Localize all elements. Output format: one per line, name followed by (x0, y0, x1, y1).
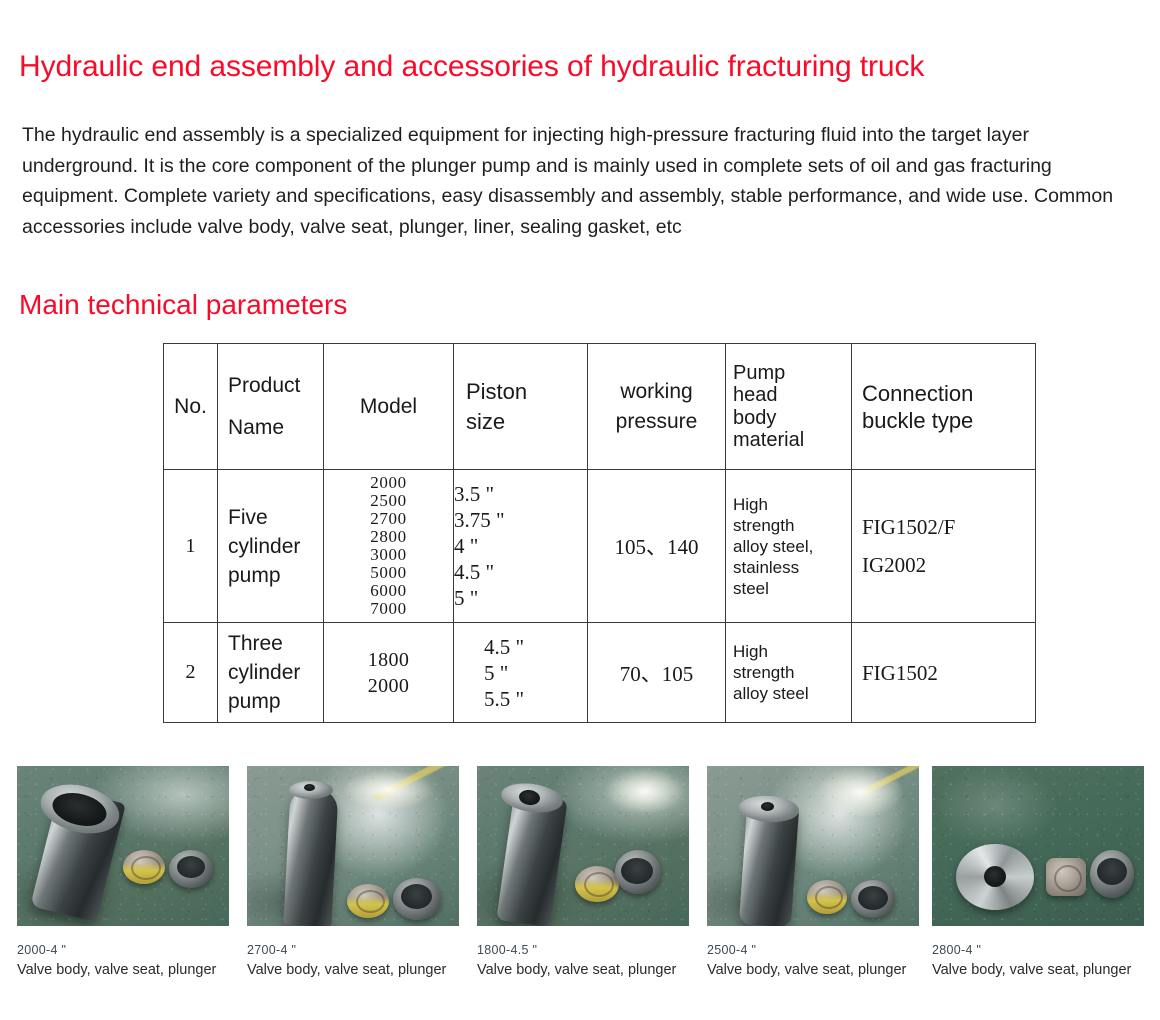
cell-connection-buckle-type: FIG1502 (852, 623, 1036, 723)
col-header-piston-size-line2: size (466, 407, 587, 437)
cell-material-line2: strength (733, 515, 851, 536)
cell-piston-size: 3.5 " 3.75 " 4 " 4.5 " 5 " (454, 470, 588, 623)
cell-product-name: Five cylinder pump (218, 470, 324, 623)
cell-product-name-line1: Three (228, 629, 323, 658)
plunger-ring-bore (858, 886, 888, 910)
plunger-part (739, 804, 799, 926)
gallery-caption-description: Valve body, valve seat, plunger (247, 962, 459, 978)
spec-table: No. Product Name Model Piston size worki… (163, 343, 1036, 723)
gallery-caption-model: 2500-4 " (707, 943, 919, 957)
light-glare (343, 770, 433, 810)
gallery-caption-description: Valve body, valve seat, plunger (932, 962, 1144, 978)
gallery-caption-model: 2800-4 " (932, 943, 1144, 957)
cell-material-line3: alloy steel, (733, 536, 851, 557)
cell-model: 2000 2500 2700 2800 3000 5000 6000 7000 (324, 470, 454, 623)
cell-connection-buckle-type: FIG1502/F IG2002 (852, 470, 1036, 623)
product-photo-gallery: 2000-4 " Valve body, valve seat, plunger… (0, 766, 1160, 1016)
cell-product-name: Three cylinder pump (218, 623, 324, 723)
cell-working-pressure: 105、140 (588, 470, 726, 623)
product-photo-cone-seat-ring[interactable] (932, 766, 1144, 926)
cell-material-line2: strength (733, 662, 851, 683)
section-title-main-technical-parameters: Main technical parameters (19, 288, 347, 322)
cell-pump-head-material: High strength alloy steel (726, 623, 852, 723)
plunger-ring-bore (1097, 858, 1127, 885)
intro-paragraph: The hydraulic end assembly is a speciali… (22, 120, 1132, 242)
cell-connection-line1: FIG1502 (862, 654, 1035, 692)
cell-material-line1: High (733, 641, 851, 662)
valve-seat-groove (584, 872, 614, 897)
cell-piston-size-values: 3.5 " 3.75 " 4 " 4.5 " 5 " (454, 481, 587, 611)
photo-texture (932, 766, 1144, 926)
col-header-piston-size: Piston size (454, 344, 588, 470)
product-photo-tall-plunger[interactable] (247, 766, 459, 926)
cell-pump-head-material: High strength alloy steel, stainless ste… (726, 470, 852, 623)
product-photo-valve-body-bore[interactable] (17, 766, 229, 926)
col-header-working-pressure: working pressure (588, 344, 726, 470)
plunger-ring-bore (621, 858, 653, 884)
col-header-connection-line2: buckle type (862, 407, 1035, 434)
cell-working-pressure: 70、105 (588, 623, 726, 723)
cell-connection-line2: IG2002 (862, 546, 1035, 584)
plunger-bore (761, 802, 774, 811)
page-title: Hydraulic end assembly and accessories o… (19, 50, 924, 84)
cell-product-name-line2: cylinder (228, 532, 323, 561)
gallery-item[interactable]: 1800-4.5 " Valve body, valve seat, plung… (477, 766, 689, 978)
cell-model-values: 2000 2500 2700 2800 3000 5000 6000 7000 (324, 474, 453, 618)
col-header-product-name-line1: Product (228, 365, 323, 407)
cell-material-line4: stainless (733, 557, 851, 578)
col-header-model: Model (324, 344, 454, 470)
gallery-item[interactable]: 2500-4 " Valve body, valve seat, plunger (707, 766, 919, 978)
cell-model-values: 1800 2000 (324, 647, 453, 699)
col-header-working-pressure-line1: working (588, 377, 725, 407)
gallery-caption-description: Valve body, valve seat, plunger (17, 962, 229, 978)
cell-material-line1: High (733, 494, 851, 515)
col-header-pump-head-line4: material (733, 429, 851, 452)
table-header-row: No. Product Name Model Piston size worki… (164, 344, 1036, 470)
valve-body-cone-bore (984, 866, 1006, 887)
cell-product-name-line3: pump (228, 561, 323, 590)
table-row: 1 Five cylinder pump 2000 2500 2700 2800… (164, 470, 1036, 623)
cell-no: 1 (164, 470, 218, 623)
col-header-pump-head-body-material: Pump head body material (726, 344, 852, 470)
col-header-connection-buckle-type: Connection buckle type (852, 344, 1036, 470)
table-row: 2 Three cylinder pump 1800 2000 4.5 " 5 … (164, 623, 1036, 723)
valve-seat-groove (356, 890, 385, 913)
cell-material-line5: steel (733, 578, 851, 599)
col-header-working-pressure-line2: pressure (588, 407, 725, 437)
cell-material-line3: alloy steel (733, 683, 851, 704)
col-header-pump-head-line1: Pump (733, 362, 851, 385)
gallery-caption-model: 1800-4.5 " (477, 943, 689, 957)
cell-product-name-line3: pump (228, 687, 323, 716)
col-header-piston-size-line1: Piston (466, 377, 587, 407)
col-header-product-name-line2: Name (228, 407, 323, 449)
cell-product-name-line2: cylinder (228, 658, 323, 687)
plunger-ring-bore (177, 856, 205, 878)
col-header-pump-head-line2: head (733, 384, 851, 407)
col-header-connection-line1: Connection (862, 380, 1035, 407)
col-header-no: No. (164, 344, 218, 470)
gallery-caption-description: Valve body, valve seat, plunger (477, 962, 689, 978)
gallery-caption-description: Valve body, valve seat, plunger (707, 962, 919, 978)
gallery-item[interactable]: 2700-4 " Valve body, valve seat, plunger (247, 766, 459, 978)
gallery-caption-model: 2000-4 " (17, 943, 229, 957)
col-header-pump-head-line3: body (733, 407, 851, 430)
cell-product-name-line1: Five (228, 503, 323, 532)
cell-connection-line1: FIG1502/F (862, 508, 1035, 546)
cell-piston-size-values: 4.5 " 5 " 5.5 " (484, 634, 587, 712)
gallery-item[interactable]: 2800-4 " Valve body, valve seat, plunger (932, 766, 1144, 978)
cell-no: 2 (164, 623, 218, 723)
col-header-product-name: Product Name (218, 344, 324, 470)
plunger-ring-bore (401, 884, 432, 909)
plunger-part (283, 787, 338, 926)
cell-piston-size: 4.5 " 5 " 5.5 " (454, 623, 588, 723)
valve-seat-groove (1054, 865, 1082, 892)
valve-seat-groove (815, 886, 843, 909)
cell-model: 1800 2000 (324, 623, 454, 723)
plunger-tip-hole (304, 784, 315, 791)
product-photo-plunger-upright[interactable] (707, 766, 919, 926)
light-glare (605, 768, 685, 814)
spec-table-container: No. Product Name Model Piston size worki… (163, 343, 1035, 723)
gallery-item[interactable]: 2000-4 " Valve body, valve seat, plunger (17, 766, 229, 978)
gallery-caption-model: 2700-4 " (247, 943, 459, 957)
product-photo-plunger-bore[interactable] (477, 766, 689, 926)
light-glare (817, 766, 903, 818)
valve-seat-groove (131, 856, 161, 880)
